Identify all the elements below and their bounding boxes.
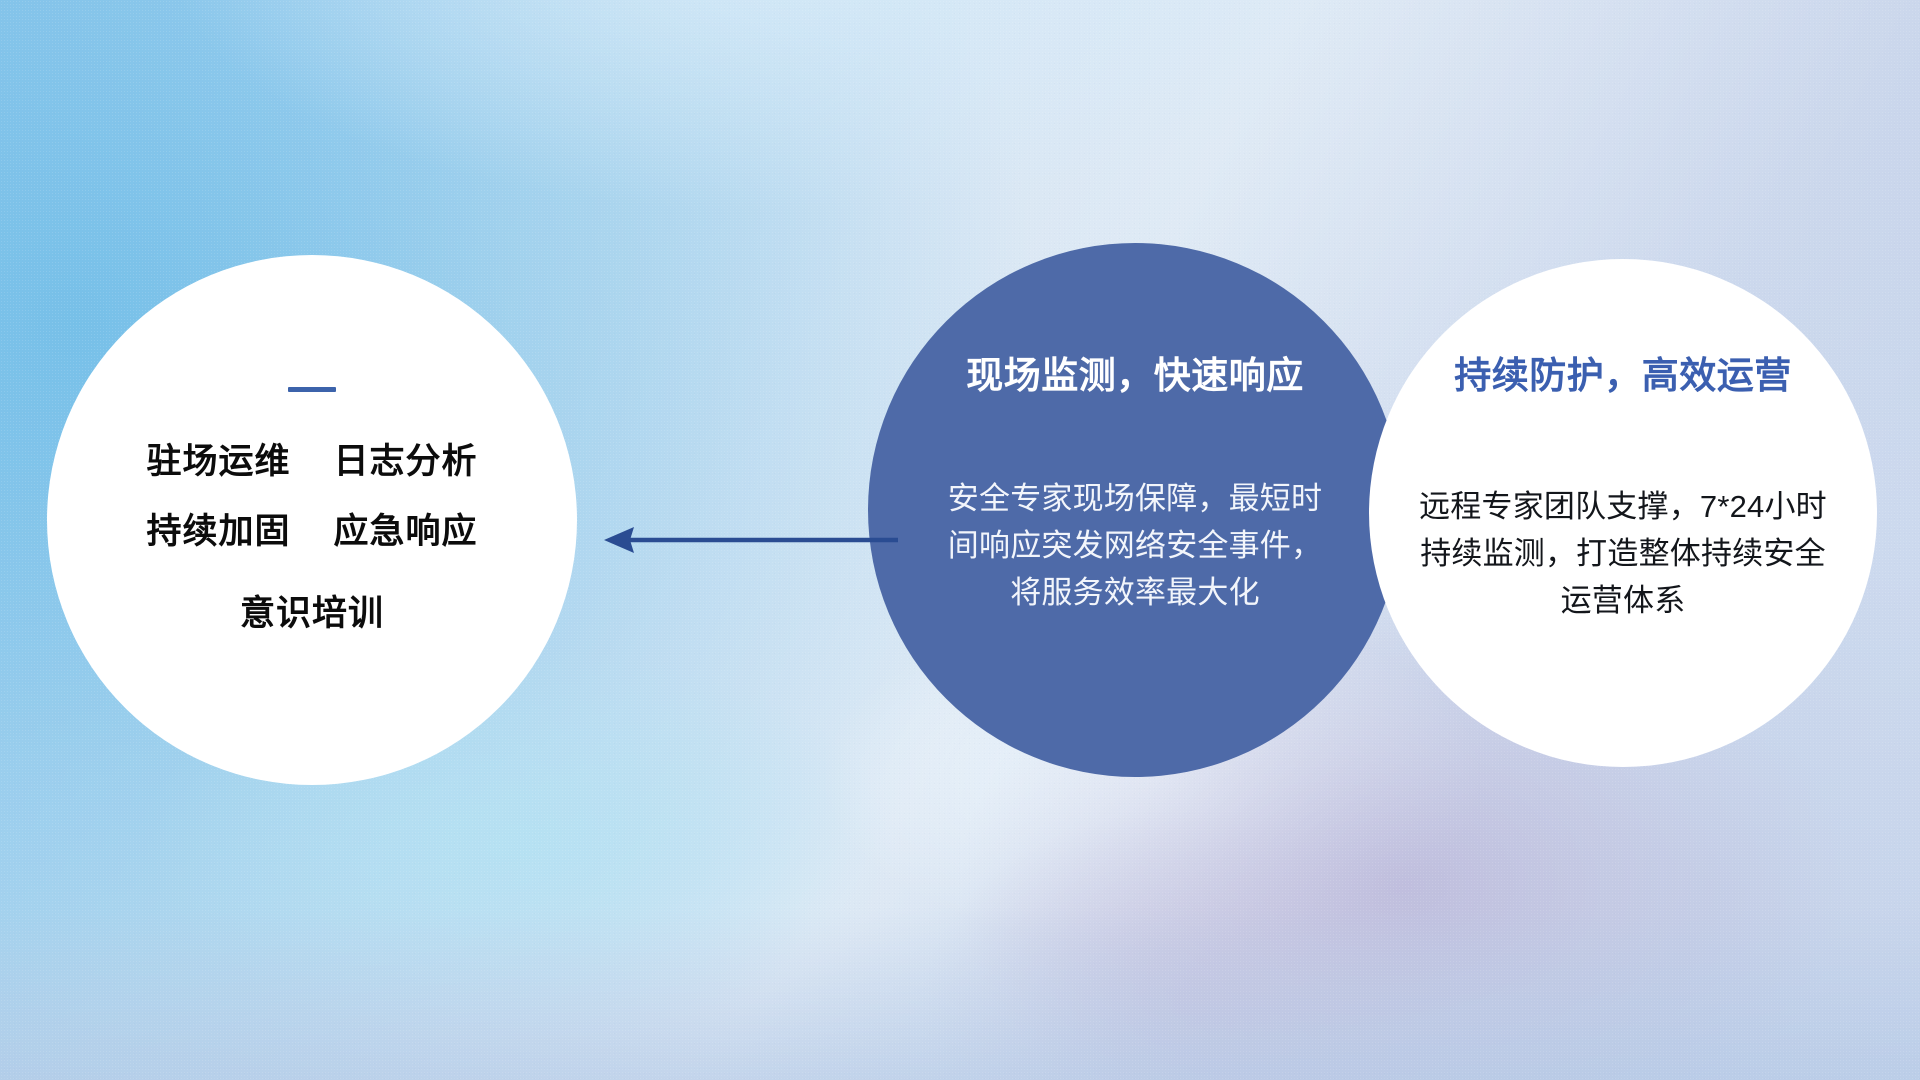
flow-arrow-left-icon: [600, 505, 900, 575]
slide-canvas: 驻场运维 日志分析 持续加固 应急响应 意识培训 现场监测，快速响应 安全专家现…: [0, 0, 1920, 1080]
continuous-protection-title: 持续防护，高效运营: [1454, 345, 1792, 399]
onsite-monitoring-content: 现场监测，快速响应 安全专家现场保障，最短时间响应突发网络安全事件，将服务效率最…: [868, 243, 1402, 777]
dash-rule-icon: [288, 387, 336, 392]
capability-circle-left[interactable]: 驻场运维 日志分析 持续加固 应急响应 意识培训: [47, 255, 577, 785]
onsite-monitoring-circle[interactable]: 现场监测，快速响应 安全专家现场保障，最短时间响应突发网络安全事件，将服务效率最…: [868, 243, 1402, 777]
capability-circle-left-content: 驻场运维 日志分析 持续加固 应急响应 意识培训: [47, 255, 577, 785]
continuous-protection-content: 持续防护，高效运营 远程专家团队支撑，7*24小时持续监测，打造整体持续安全运营…: [1369, 259, 1877, 767]
capability-line-2: 持续加固 应急响应: [147, 510, 478, 554]
continuous-protection-body: 远程专家团队支撑，7*24小时持续监测，打造整体持续安全运营体系: [1407, 483, 1839, 624]
onsite-monitoring-body: 安全专家现场保障，最短时间响应突发网络安全事件，将服务效率最大化: [945, 475, 1325, 616]
capability-line-3: 意识培训: [240, 592, 384, 636]
capability-line-1: 驻场运维 日志分析: [147, 440, 478, 484]
continuous-protection-circle[interactable]: 持续防护，高效运营 远程专家团队支撑，7*24小时持续监测，打造整体持续安全运营…: [1369, 259, 1877, 767]
onsite-monitoring-title: 现场监测，快速响应: [966, 345, 1304, 399]
